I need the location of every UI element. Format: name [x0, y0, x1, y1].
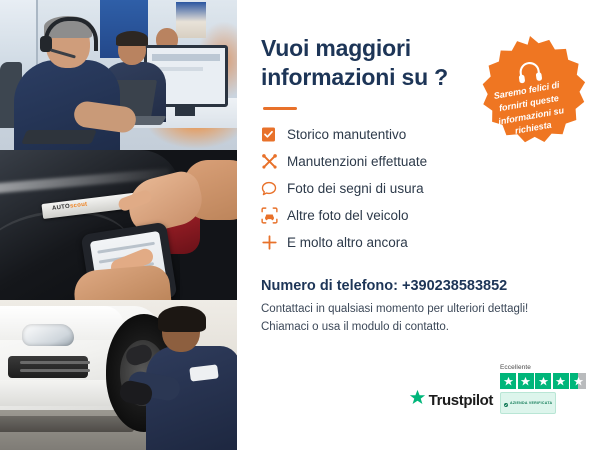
feature-item-altre-foto-veicolo: Altre foto del veicolo	[261, 203, 578, 229]
contact-line-2: Chiamaci o usa il modulo di contatto.	[261, 321, 449, 333]
trustpilot-rating-label: Eccellente	[500, 364, 531, 371]
feature-label: E molto altro ancora	[287, 235, 408, 250]
star-filled	[500, 373, 516, 389]
verified-business-badge: AZIENDA VERIFICATA	[500, 392, 556, 414]
feature-label: Altre foto del veicolo	[287, 208, 409, 223]
trustpilot-score-block: Eccellente	[500, 364, 586, 414]
content-panel: Vuoi maggiori informazioni su ? Storico …	[237, 0, 600, 450]
feature-label: Foto dei segni di usura	[287, 181, 424, 196]
photo-column: AUTOscout	[0, 0, 237, 450]
star-filled	[553, 373, 569, 389]
inspection-strip-logo: AUTOscout	[52, 202, 88, 212]
photo-vehicle-inspection-strip-and-phone: AUTOscout	[0, 150, 237, 300]
speech-bubble-icon	[261, 178, 287, 200]
star-half	[570, 373, 586, 389]
mechanic-hair	[158, 306, 206, 332]
monitor-screen-bar	[152, 54, 220, 61]
trustpilot-logo: Trustpilot	[409, 389, 493, 414]
feature-item-foto-segni-usura: Foto dei segni di usura	[261, 176, 578, 202]
trustpilot-star-icon	[409, 389, 426, 411]
contact-line-1: Contattaci in qualsiasi momento per ulte…	[261, 303, 528, 315]
photo-call-center-agents-with-headsets	[0, 0, 237, 150]
promo-banner: AUTOscout	[0, 0, 600, 450]
photo-mechanic-inspecting-wheel	[0, 300, 237, 450]
keyboard	[21, 130, 97, 144]
grille-slat	[20, 369, 90, 372]
plus-icon	[261, 232, 287, 254]
headset-headband	[44, 17, 98, 51]
star-filled	[535, 373, 551, 389]
vehicle-lift-arm	[0, 416, 134, 432]
wrench-screwdriver-cross-icon	[261, 151, 287, 173]
clipboard-check-icon	[261, 124, 287, 146]
trustpilot-wordmark: Trustpilot	[429, 392, 493, 409]
car-headlight	[22, 324, 74, 346]
second-agent-hair	[116, 31, 148, 46]
title-divider	[263, 107, 297, 110]
feature-label: Manutenzioni effettuate	[287, 154, 427, 169]
trustpilot-stars	[500, 373, 586, 389]
callout-badge: Saremo felici di fornirti queste informa…	[468, 34, 592, 158]
grille-slat	[20, 361, 90, 364]
star-filled	[518, 373, 534, 389]
car-grille	[8, 356, 88, 378]
feature-item-molto-altro: E molto altro ancora	[261, 230, 578, 256]
contact-description: Contattaci in qualsiasi momento per ulte…	[261, 301, 578, 337]
page-title: Vuoi maggiori informazioni su ?	[261, 34, 471, 93]
car-focus-frame-icon	[261, 205, 287, 227]
trustpilot-rating[interactable]: Trustpilot Eccellente	[409, 364, 586, 414]
verified-check-icon	[504, 394, 508, 412]
phone-number-line[interactable]: Numero di telefono: +390238583852	[261, 278, 578, 294]
feature-label: Storico manutentivo	[287, 127, 406, 142]
wall-poster	[176, 2, 206, 38]
verified-label: AZIENDA VERIFICATA	[510, 401, 552, 405]
